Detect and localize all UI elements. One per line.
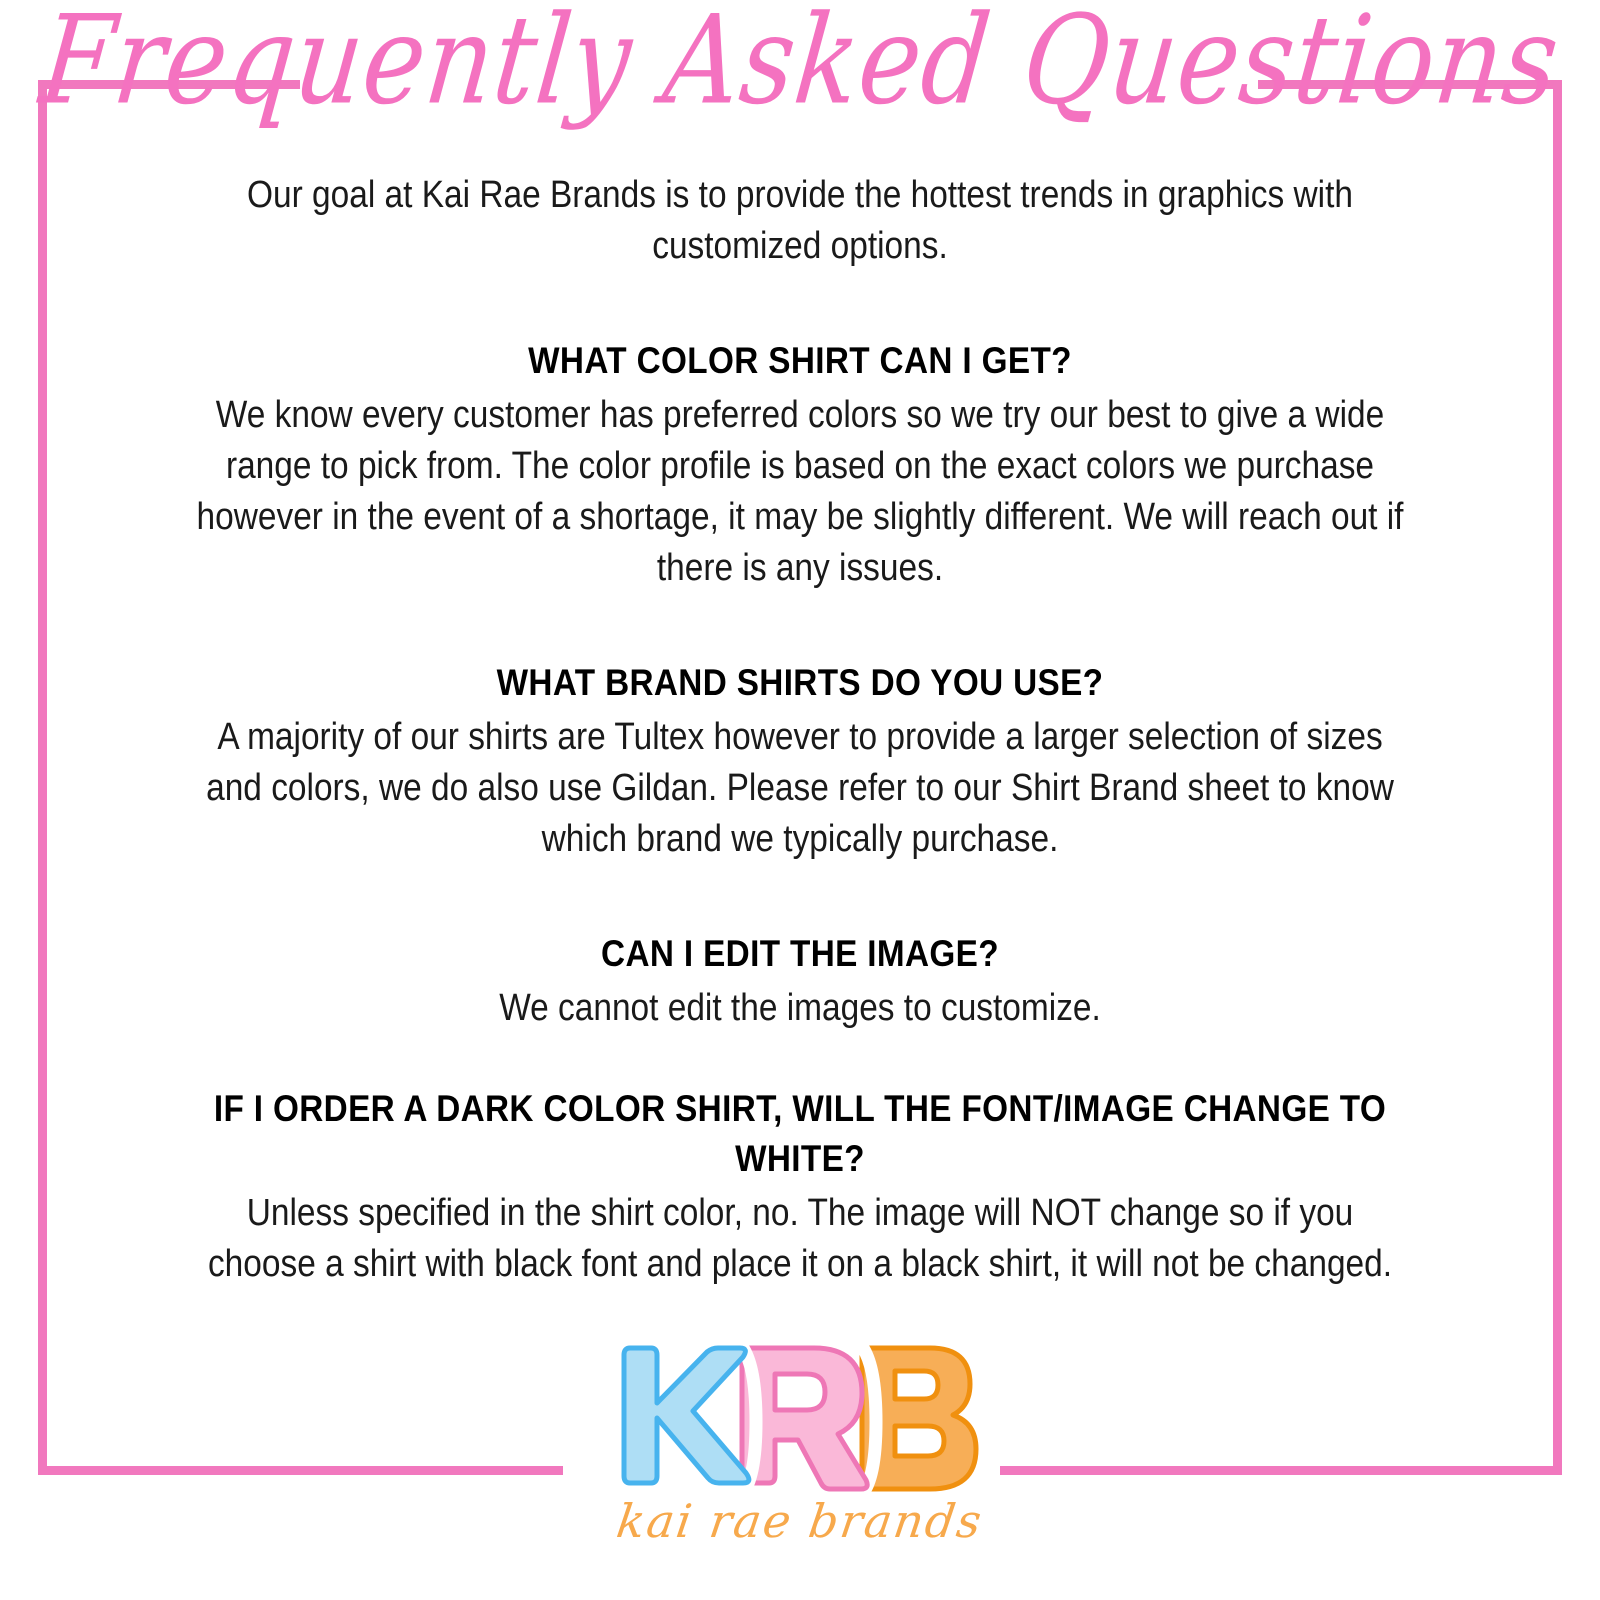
section-spacer <box>110 865 1490 929</box>
logo-tagline: kai rae brands <box>0 1498 1600 1544</box>
frame-rule-right <box>1553 80 1562 1475</box>
faq-answer-2: A majority of our shirts are Tultex howe… <box>193 712 1407 865</box>
page-title: Frequently Asked Questions <box>35 0 1564 121</box>
frame-rule-left <box>38 80 47 1475</box>
logo-letter-k <box>624 1348 749 1483</box>
krb-monogram-icon <box>610 1336 990 1516</box>
faq-question-4: IF I ORDER A DARK COLOR SHIRT, WILL THE … <box>179 1084 1421 1184</box>
faq-question-2: WHAT BRAND SHIRTS DO YOU USE? <box>179 658 1421 708</box>
faq-content: Our goal at Kai Rae Brands is to provide… <box>110 170 1490 1290</box>
faq-question-1: WHAT COLOR SHIRT CAN I GET? <box>179 336 1421 386</box>
section-spacer <box>110 594 1490 658</box>
intro-paragraph: Our goal at Kai Rae Brands is to provide… <box>193 170 1407 272</box>
faq-answer-4: Unless specified in the shirt color, no.… <box>193 1188 1407 1290</box>
faq-answer-1: We know every customer has preferred col… <box>193 390 1407 594</box>
faq-page: Frequently Asked Questions Our goal at K… <box>0 0 1600 1600</box>
section-spacer <box>110 272 1490 336</box>
frame-rule-top-left <box>38 80 300 89</box>
section-spacer <box>110 1034 1490 1084</box>
faq-question-3: CAN I EDIT THE IMAGE? <box>179 929 1421 979</box>
frame-rule-top-right <box>1258 80 1562 89</box>
faq-answer-3: We cannot edit the images to customize. <box>193 983 1407 1034</box>
brand-logo: kai rae brands <box>0 1336 1600 1544</box>
page-title-container: Frequently Asked Questions <box>0 8 1600 112</box>
